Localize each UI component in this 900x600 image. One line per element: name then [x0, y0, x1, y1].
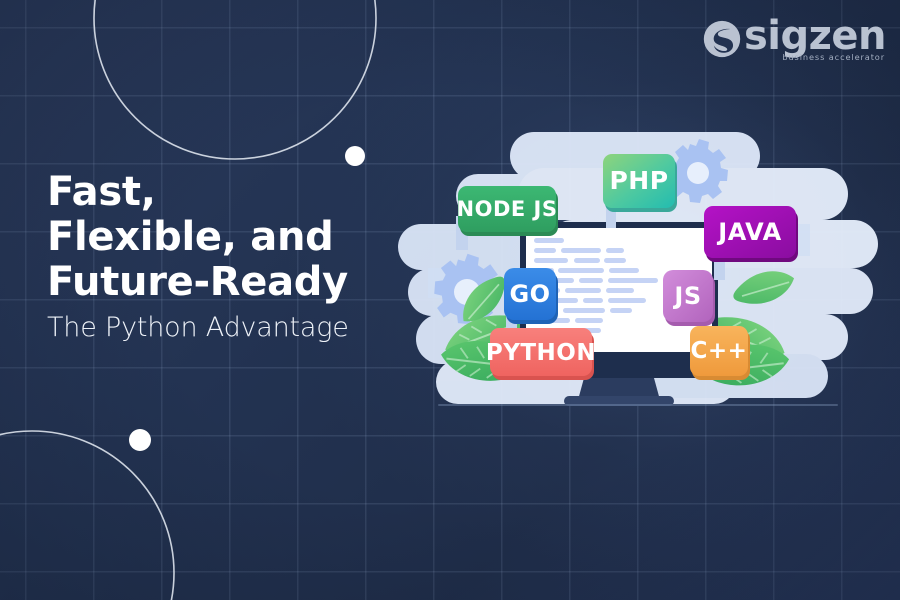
- programming-languages-illustration: NODE JS PHP JAVA: [398, 128, 888, 413]
- brand-name: sigzen: [744, 16, 886, 56]
- sigzen-swirl-logo-icon: [702, 19, 742, 59]
- hero-copy: Fast, Flexible, and Future-Ready The Pyt…: [47, 170, 447, 343]
- page-subtitle: The Python Advantage: [47, 312, 447, 343]
- svg-text:JAVA: JAVA: [716, 218, 781, 246]
- svg-text:NODE JS: NODE JS: [457, 197, 558, 221]
- page-title: Fast, Flexible, and Future-Ready: [47, 170, 447, 306]
- badge-python[interactable]: PYTHON: [486, 328, 596, 380]
- ground-line: [438, 404, 838, 406]
- svg-text:PHP: PHP: [609, 166, 668, 195]
- svg-text:GO: GO: [509, 280, 550, 308]
- brand-logo[interactable]: sigzen business accelerator: [702, 16, 886, 61]
- svg-text:JS: JS: [672, 282, 701, 310]
- brand-tagline: business accelerator: [782, 53, 885, 61]
- svg-text:C++: C++: [691, 338, 748, 364]
- badge-js[interactable]: JS: [663, 270, 715, 326]
- headline-line-1: Fast,: [47, 170, 447, 215]
- brand-text: sigzen business accelerator: [744, 16, 886, 61]
- headline-line-3: Future-Ready: [47, 260, 447, 305]
- badge-cpp[interactable]: C++: [690, 326, 750, 380]
- headline-line-2: Flexible, and: [47, 215, 447, 260]
- hero-banner: sigzen business accelerator Fast, Flexib…: [0, 0, 900, 600]
- svg-text:PYTHON: PYTHON: [486, 340, 596, 366]
